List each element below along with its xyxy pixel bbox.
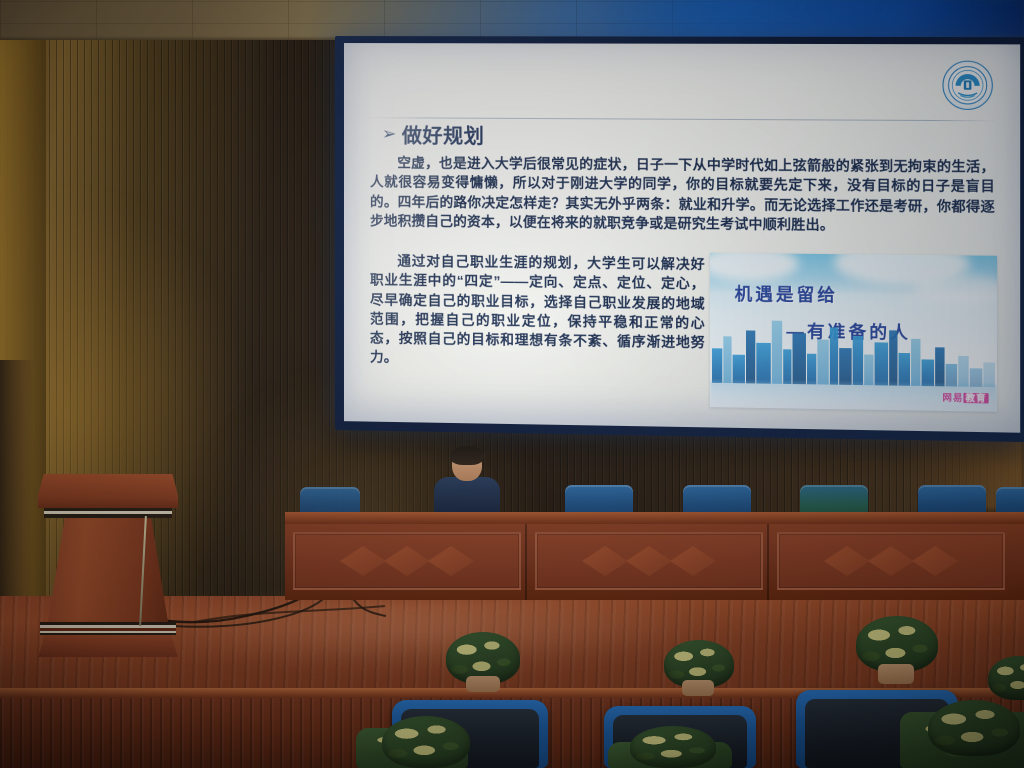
camouflage-cap	[630, 726, 716, 768]
arrow-bullet-icon: ➢	[382, 125, 397, 142]
table-panel	[293, 532, 521, 590]
student-neck	[466, 676, 500, 692]
camouflage-cap	[382, 716, 470, 768]
podium-body	[48, 518, 168, 622]
netease-watermark: 网易教育	[942, 390, 988, 404]
podium	[38, 474, 178, 660]
slide-heading-text: 做好规划	[402, 119, 485, 149]
svg-text:· · · · · · ·: · · · · · · ·	[961, 69, 974, 73]
table-seam	[767, 524, 769, 600]
floor-cable-runs	[195, 600, 495, 640]
presenter-hair	[450, 446, 484, 465]
student-neck	[878, 664, 914, 684]
podium-trim	[44, 508, 172, 518]
podium-base	[38, 635, 178, 657]
university-emblem-icon: · · · · · · ·	[942, 61, 992, 110]
projection-screen: · · · · · · · ➢ 做好规划 空虚，也是进入大学后很常见的症状，日子…	[344, 43, 1020, 433]
slide-heading: ➢ 做好规划	[382, 119, 484, 149]
camouflage-cap	[928, 700, 1020, 756]
head-table	[285, 512, 1024, 600]
cloud-shape	[913, 273, 997, 305]
presenter	[432, 448, 502, 520]
podium-top	[38, 474, 178, 508]
projection-screen-frame: · · · · · · · ➢ 做好规划 空虚，也是进入大学后很常见的症状，日子…	[335, 36, 1024, 442]
table-panel	[777, 532, 1005, 590]
city-skyline	[710, 304, 997, 388]
presentation-slide: · · · · · · · ➢ 做好规划 空虚，也是进入大学后很常见的症状，日子…	[344, 43, 1020, 433]
table-panel	[535, 532, 763, 590]
lecture-hall-photo: · · · · · · · ➢ 做好规划 空虚，也是进入大学后很常见的症状，日子…	[0, 0, 1024, 768]
watermark-badge: 教育	[963, 393, 988, 404]
podium-base-trim	[40, 622, 176, 635]
watermark-prefix: 网易	[942, 392, 963, 403]
slide-paragraph-1: 空虚，也是进入大学后很常见的症状，日子一下从中学时代如上弦箭般的紧张到无拘束的生…	[370, 153, 995, 236]
student-neck	[682, 680, 714, 696]
table-seam	[525, 524, 527, 600]
image-headline-line1: 机遇是留给	[735, 280, 838, 307]
slide-paragraph-2: 通过对自己职业生涯的规划，大学生可以解决好职业生涯中的“四定”——定向、定点、定…	[370, 251, 705, 372]
slide-motivational-image: 机遇是留给 —有准备的人	[710, 253, 997, 412]
